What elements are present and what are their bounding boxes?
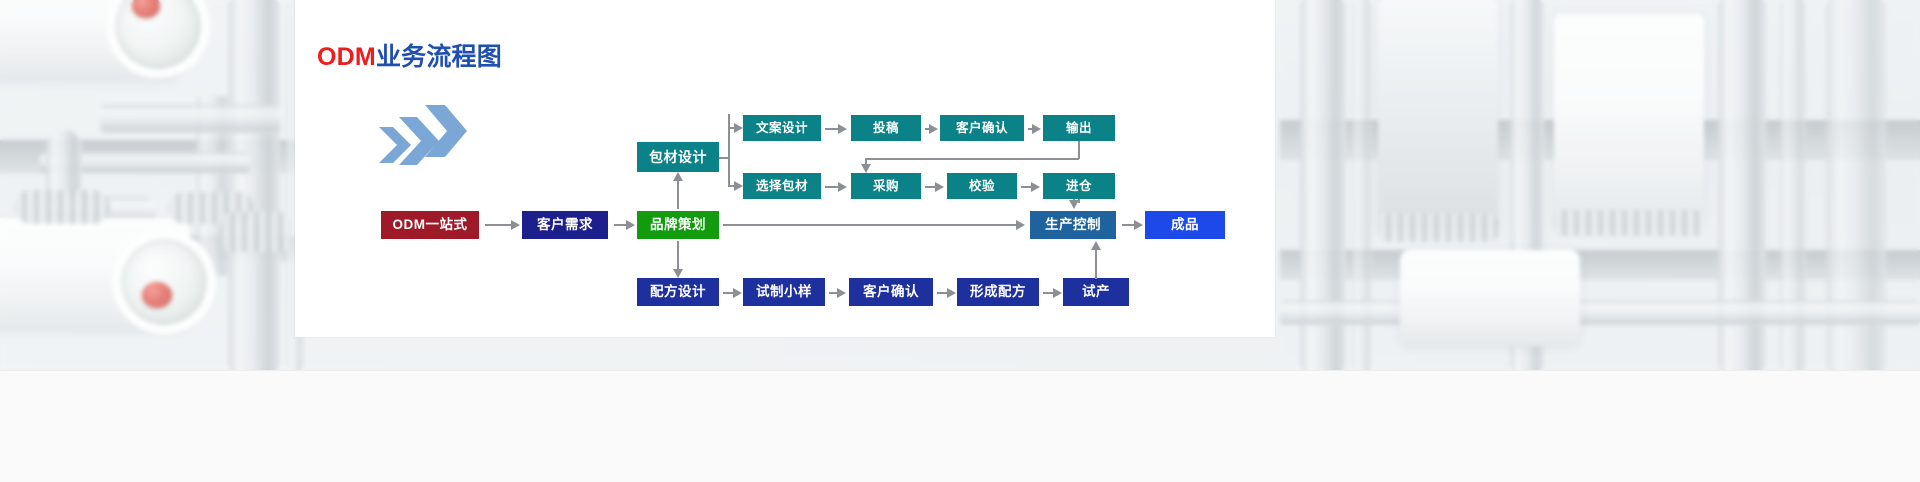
node-label: 品牌策划 [650,218,706,232]
arrow-right-icon [935,182,944,192]
node-warehouse[interactable]: 进仓 [1043,173,1115,199]
node-customer-demand[interactable]: 客户需求 [522,211,608,239]
arrow-right-icon [837,288,846,298]
arrow-down-icon [861,164,871,173]
node-label: 成品 [1171,218,1199,232]
node-label: 试制小样 [756,285,812,299]
arrow-right-icon [838,182,847,192]
node-submit[interactable]: 投稿 [851,115,921,141]
bottom-strip [0,370,1920,482]
node-formula-design[interactable]: 配方设计 [637,278,719,306]
page-title: ODM业务流程图 [317,37,502,73]
arrow-right-icon [734,123,743,133]
arrow-down-icon [673,269,683,278]
arrow-right-icon [733,288,742,298]
node-label: 采购 [873,180,899,193]
node-client-confirm-top[interactable]: 客户确认 [940,115,1024,141]
arrow-up-icon [1091,241,1101,250]
node-label: 形成配方 [970,285,1026,299]
connector [677,180,679,209]
arrow-right-icon [1032,124,1041,134]
node-production-control[interactable]: 生产控制 [1030,211,1116,239]
arrow-right-icon [626,220,635,230]
content-card: ODM业务流程图 文案设计 投稿 客户确认 输出 包材设计 [295,0,1275,337]
arrow-right-icon [1134,220,1143,230]
node-label: 试产 [1082,285,1110,299]
connector [677,241,679,269]
node-output[interactable]: 输出 [1043,115,1115,141]
node-label: 配方设计 [650,285,706,299]
node-finished-goods[interactable]: 成品 [1145,211,1225,239]
connector [485,224,513,226]
arrow-right-icon [1016,220,1025,230]
node-package-design[interactable]: 包材设计 [637,142,719,172]
node-start[interactable]: ODM一站式 [381,211,479,239]
page-title-suffix: 业务流程图 [376,43,502,71]
node-label: 客户确认 [956,122,1008,135]
double-chevron-right-icon [377,101,467,167]
connector [723,224,1018,226]
node-label: ODM一站式 [393,218,468,232]
connector [865,158,1079,160]
node-copy-design[interactable]: 文案设计 [743,115,821,141]
node-label: 进仓 [1066,180,1092,193]
arrow-right-icon [734,181,743,191]
node-label: 输出 [1066,122,1092,135]
arrow-down-icon [1069,200,1079,209]
screenshot-root: ODM业务流程图 文案设计 投稿 客户确认 输出 包材设计 [0,0,1920,482]
node-inspect[interactable]: 校验 [947,173,1017,199]
arrow-right-icon [511,220,520,230]
node-label: 包材设计 [649,150,707,164]
node-client-confirm-bottom[interactable]: 客户确认 [849,278,933,306]
connector [1095,249,1097,279]
arrow-right-icon [1053,288,1062,298]
node-label: 校验 [969,180,995,193]
connector [728,114,730,186]
arrow-up-icon [673,172,683,181]
arrow-right-icon [1031,182,1040,192]
node-brand-planning[interactable]: 品牌策划 [637,211,719,239]
arrow-right-icon [838,124,847,134]
node-label: 客户确认 [863,285,919,299]
node-select-material[interactable]: 选择包材 [743,173,821,199]
node-label: 生产控制 [1045,218,1101,232]
node-label: 投稿 [873,122,899,135]
arrow-right-icon [929,124,938,134]
node-formula-final[interactable]: 形成配方 [957,278,1039,306]
node-label: 客户需求 [537,218,593,232]
node-label: 选择包材 [756,180,808,193]
node-label: 文案设计 [756,122,808,135]
connector [1078,141,1080,159]
page-title-prefix: ODM [317,43,376,71]
node-purchase[interactable]: 采购 [851,173,921,199]
arrow-right-icon [947,288,956,298]
node-trial-production[interactable]: 试产 [1063,278,1129,306]
node-trial-sample[interactable]: 试制小样 [743,278,825,306]
